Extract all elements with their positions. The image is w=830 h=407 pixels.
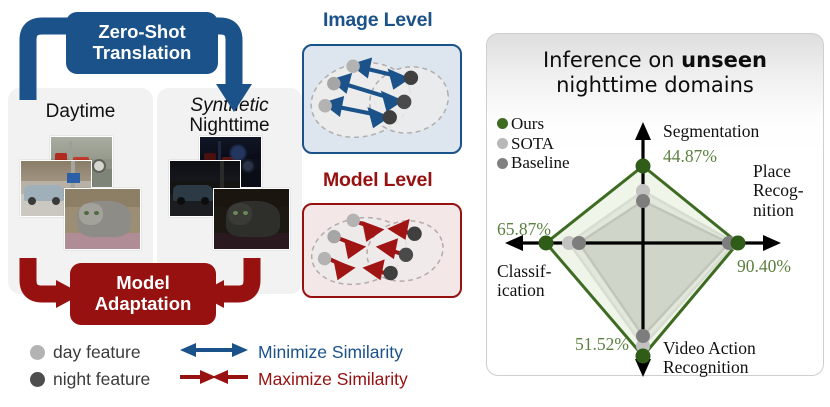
thumbnail-cat — [64, 188, 141, 250]
axis-value-segmentation: 44.87% — [663, 146, 717, 167]
model-level-label: Model Level — [323, 169, 432, 192]
zero-shot-translation-box[interactable]: Zero-Shot Translation — [66, 12, 218, 74]
thumbnail-cat-dark — [213, 188, 290, 250]
model-adaptation-label: Model Adaptation — [95, 273, 192, 314]
maximize-similarity-label: Maximize Similarity — [258, 369, 408, 390]
radar-card: Inference on unseen nighttime domains Ou… — [486, 33, 824, 376]
model-level-feature-diagram — [304, 205, 460, 296]
night-feature-label: night feature — [53, 369, 178, 390]
diagram-legend: day feature Minimize Similarity night fe… — [30, 342, 470, 390]
axis-name-place-recognition: Place Recog- nition — [753, 162, 804, 220]
day-feature-dot-icon — [30, 345, 45, 360]
day-feature-label: day feature — [53, 342, 178, 363]
maximize-similarity-arrow-icon — [178, 369, 250, 390]
axis-value-classification: 65.87% — [497, 219, 551, 240]
image-level-feature-diagram — [304, 46, 460, 152]
image-level-label: Image Level — [323, 9, 432, 32]
axis-value-video-action-recognition: 51.52% — [575, 334, 629, 355]
axis-value-place-recognition: 90.40% — [737, 256, 791, 277]
model-level-cluster-panel — [302, 203, 462, 298]
minimize-similarity-arrow-icon — [178, 342, 250, 363]
axis-name-video-action-recognition: Video Action Recognition — [663, 339, 756, 378]
figure-root: Daytime — [0, 0, 830, 407]
minimize-similarity-label: Minimize Similarity — [258, 342, 403, 363]
model-adaptation-box[interactable]: Model Adaptation — [70, 263, 216, 325]
legend-row-night: night feature Maximize Similarity — [30, 369, 470, 390]
legend-row-day: day feature Minimize Similarity — [30, 342, 470, 363]
zero-shot-translation-label: Zero-Shot Translation — [93, 22, 192, 63]
axis-name-segmentation: Segmentation — [663, 122, 759, 141]
image-level-cluster-panel — [302, 44, 462, 154]
night-feature-dot-icon — [30, 372, 45, 387]
axis-name-classification: Classif- ication — [497, 262, 551, 301]
